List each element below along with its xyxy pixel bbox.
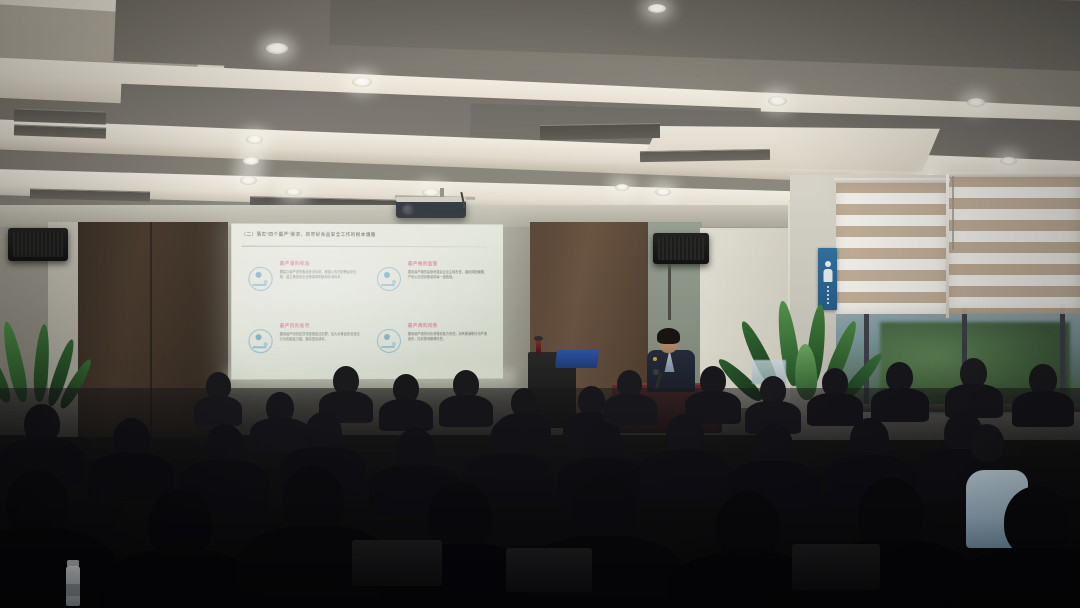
projection-screen: （二）落实“四个最严”要求，筑牢好食品安全工作的根本遵循 最严谨的标准 要建立最… xyxy=(231,224,503,380)
ceiling-vent xyxy=(540,123,660,140)
downlight-icon xyxy=(655,188,671,196)
audience-member xyxy=(748,376,798,430)
audience-member xyxy=(196,372,240,422)
blind-pull-cord[interactable] xyxy=(952,176,954,250)
downlight-icon xyxy=(352,77,372,87)
chair-back xyxy=(352,540,442,586)
wall-speaker xyxy=(8,228,68,261)
blue-equipment-case xyxy=(555,350,599,368)
audience-member xyxy=(0,470,98,608)
ceiling-panel xyxy=(113,0,351,71)
audience-member xyxy=(118,490,242,608)
speaker-mesh-icon xyxy=(658,237,704,260)
ceiling-vent xyxy=(30,189,150,202)
presenter-hair xyxy=(657,328,680,344)
ceiling-coffer xyxy=(640,126,940,172)
standards-icon xyxy=(245,264,275,294)
zebra-roller-blind[interactable] xyxy=(948,176,1080,314)
blind-rail xyxy=(834,178,950,183)
downlight-icon xyxy=(768,96,787,106)
audience-member xyxy=(810,368,860,422)
downlight-icon xyxy=(240,176,257,185)
audience-member xyxy=(688,366,738,420)
downlight-icon xyxy=(285,188,302,196)
slide-quadrant-heading: 最严格的监管 xyxy=(408,261,438,267)
blind-divider xyxy=(946,174,949,318)
slide-quadrant-body: 要建立最严谨的食品安全标准，覆盖从农田到餐桌全过程，建立食品安全全程追溯制度和标… xyxy=(280,270,362,280)
slide-quadrant-heading: 最严肃的问责 xyxy=(408,323,438,329)
downlight-icon xyxy=(648,4,666,13)
blind-rail xyxy=(946,172,1080,177)
slide-quadrant-heading: 最严谨的标准 xyxy=(280,261,310,267)
chair-back xyxy=(792,544,880,590)
slide-quadrant-body: 要用最严厉的处罚来震慑违法犯罪，加大对食品安全违法行为的惩处力度，提高违法成本。 xyxy=(280,332,362,342)
slide-quadrant-heading: 最严厉的处罚 xyxy=(280,323,310,329)
slide-divider xyxy=(241,246,487,248)
downlight-icon xyxy=(1000,157,1017,165)
audience-member xyxy=(972,486,1080,608)
wall-speaker xyxy=(653,233,709,264)
audience-member xyxy=(382,374,430,426)
speaker-stand xyxy=(668,264,671,320)
ceiling-panel xyxy=(329,0,1080,71)
downlight-icon xyxy=(967,98,985,107)
projector-top xyxy=(396,197,466,202)
audience-member xyxy=(1016,364,1070,422)
ceiling-vent xyxy=(640,149,770,162)
accountability-icon xyxy=(374,326,404,356)
projector-lens-icon xyxy=(402,204,415,215)
conference-room-photo: （二）落实“四个最严”要求，筑牢好食品安全工作的根本遵循 最严谨的标准 要建立最… xyxy=(0,0,1080,608)
audience-member xyxy=(322,366,370,418)
chair-back xyxy=(506,548,592,592)
person-icon-body xyxy=(823,269,832,282)
audience-member xyxy=(442,370,490,422)
slide-quadrant: 最严谨的标准 要建立最严谨的食品安全标准，覆盖从农田到餐桌全过程，建立食品安全全… xyxy=(245,258,364,316)
slide-quadrant-body: 要用最严格的监管来落实企业主体责任，强化风险管理，严把从农田到餐桌的每一道防线。 xyxy=(408,270,489,280)
ceiling-projector xyxy=(396,200,466,218)
downlight-icon xyxy=(266,43,288,54)
slide-quadrant-body: 要用最严肃的问责来落实各方责任，对失职渎职行为严肃追责，压实属地管理责任。 xyxy=(408,332,489,342)
penalty-icon xyxy=(245,326,275,356)
speaker-mesh-icon xyxy=(13,232,63,257)
downlight-icon xyxy=(615,184,629,191)
person-icon xyxy=(825,261,831,267)
zebra-roller-blind[interactable] xyxy=(836,182,948,314)
supervision-icon xyxy=(374,264,404,294)
rack-accessory xyxy=(534,336,543,341)
audience-member xyxy=(962,424,1020,484)
audience-member xyxy=(948,358,1000,414)
audience-member xyxy=(606,370,654,422)
bottle-label xyxy=(66,584,80,596)
slide-quadrant: 最严格的监管 要用最严格的监管来落实企业主体责任，强化风险管理，严把从农田到餐桌… xyxy=(374,258,491,316)
audience-member xyxy=(254,466,374,608)
audience-member xyxy=(96,418,166,496)
rack-accessory xyxy=(536,340,541,354)
downlight-icon xyxy=(246,135,263,144)
audience-member xyxy=(8,404,76,480)
downlight-icon xyxy=(243,157,259,165)
slide-title: （二）落实“四个最严”要求，筑牢好食品安全工作的根本遵循 xyxy=(241,232,495,239)
audience-member xyxy=(874,362,926,418)
presenter-badge xyxy=(653,357,657,361)
